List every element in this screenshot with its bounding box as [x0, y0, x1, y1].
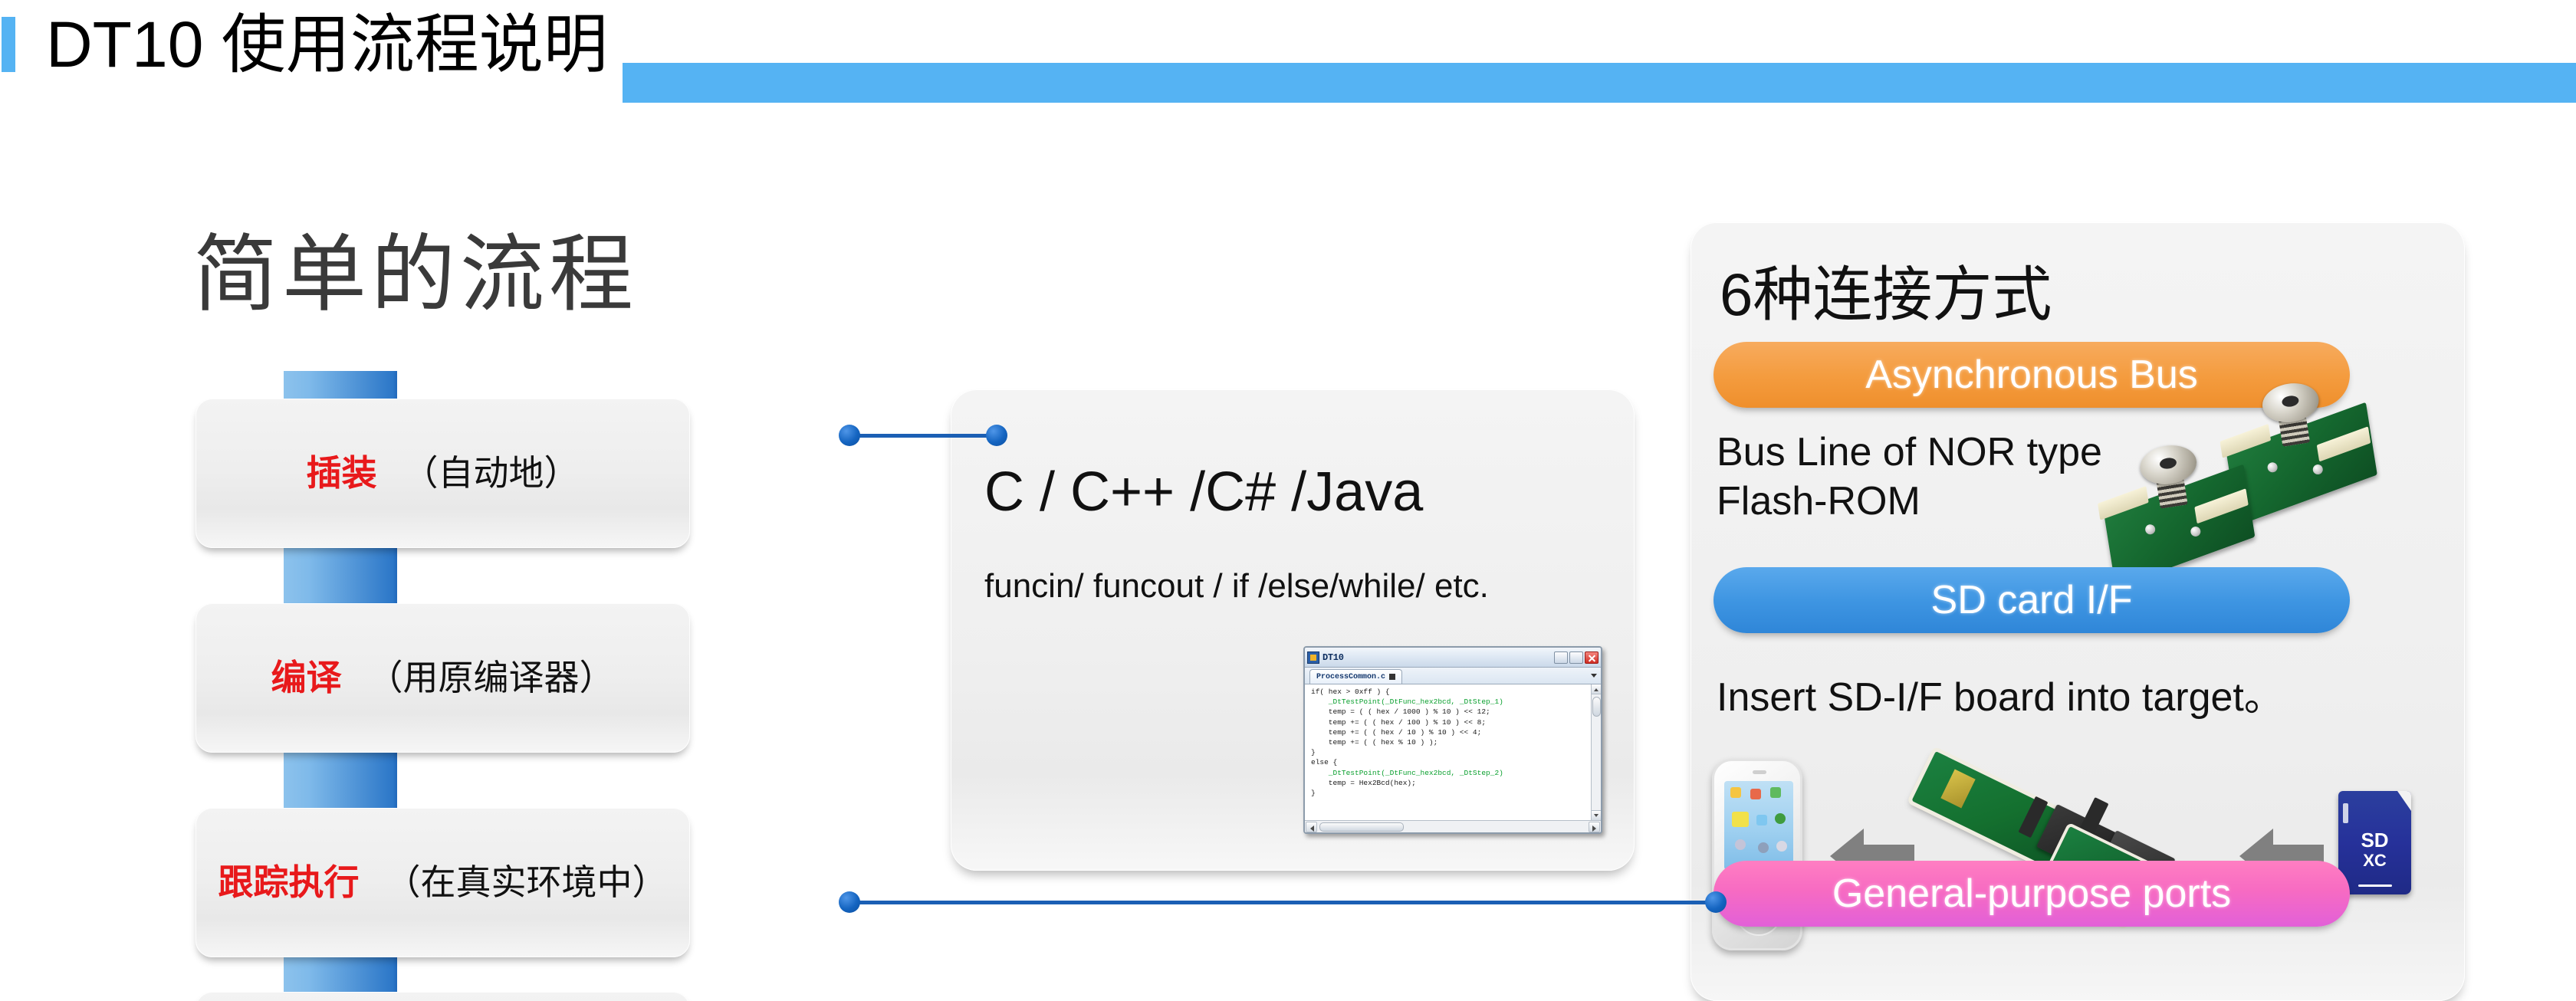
connector-dot-step3: [839, 891, 860, 913]
flow-step-2-note: （用原编译器）: [368, 658, 615, 697]
center-panel-subtext: funcin/ funcout / if /else/while/ etc.: [984, 562, 1605, 611]
scroll-down-icon[interactable]: [1592, 810, 1601, 820]
sd-card-lock-switch: [2343, 803, 2348, 823]
flow-step-2[interactable]: 编译（用原编译器）: [195, 603, 690, 753]
flow-step-4[interactable]: [195, 992, 690, 1001]
center-panel-heading: C / C++ /C# /Java: [984, 460, 1423, 524]
code-line: if( hex > 0xff ) {: [1311, 687, 1601, 697]
header-rule-bar: [623, 63, 2576, 103]
pill-general-purpose-ports-label: General-purpose ports: [1832, 871, 2231, 917]
code-line: temp = Hex2Bcd(hex);: [1311, 778, 1601, 788]
horizontal-scrollbar[interactable]: [1305, 820, 1601, 832]
horizontal-scrollbar-thumb[interactable]: [1319, 822, 1404, 832]
scroll-left-icon[interactable]: [1306, 822, 1317, 832]
connector-dot-step1: [839, 425, 860, 446]
minimize-icon[interactable]: [1554, 651, 1568, 664]
flow-step-3-action: 跟踪执行: [219, 863, 360, 902]
code-line: else {: [1311, 757, 1601, 767]
code-line: temp += ( ( hex / 100 ) % 10 ) << 8;: [1311, 717, 1601, 727]
scroll-right-icon[interactable]: [1589, 822, 1600, 832]
code-line: temp += ( ( hex % 10 ) );: [1311, 737, 1601, 747]
sd-card-photo: SD XC: [2338, 791, 2411, 894]
pda-screen-icon: [1776, 841, 1787, 852]
flow-step-3-note: （在真实环境中）: [386, 863, 668, 902]
code-line: temp += ( ( hex / 10 ) % 10 ) << 4;: [1311, 727, 1601, 737]
pill-asynchronous-bus-label: Asynchronous Bus: [1865, 352, 2198, 398]
code-window-titlebar: DT10: [1305, 648, 1601, 668]
maximize-icon[interactable]: [1569, 651, 1583, 664]
pda-speaker: [1753, 770, 1766, 774]
flow-step-2-text: 编译（用原编译器）: [271, 658, 615, 698]
sd-card-class-label: XC: [2338, 851, 2411, 871]
code-lines: if( hex > 0xff ) { _DtTestPoint(_DtFunc_…: [1311, 687, 1601, 798]
connector-line-step3-right: [849, 901, 1716, 904]
sd-card-notch: [2397, 791, 2411, 811]
pda-screen-icon: [1775, 813, 1786, 824]
dt10-app-icon: [1307, 651, 1319, 664]
page-title: DT10 使用流程说明: [46, 5, 608, 84]
code-window-buttons: [1554, 651, 1598, 664]
vertical-scrollbar[interactable]: [1591, 684, 1601, 820]
slide-canvas: DT10 使用流程说明 简单的流程 插装（自动地） 编译（用原编译器） 跟踪执行…: [0, 0, 2576, 1001]
code-line: _DtTestPoint(_DtFunc_hex2bcd, _DtStep_1): [1311, 697, 1601, 707]
code-line: temp = ( ( hex / 1000 ) % 10 ) << 12;: [1311, 707, 1601, 717]
pda-screen-icon: [1770, 787, 1781, 798]
pill-sd-card-if-label: SD card I/F: [1931, 577, 2133, 623]
code-window-title: DT10: [1322, 652, 1344, 663]
code-line: }: [1311, 747, 1601, 757]
right-panel: 6种连接方式 Asynchronous Bus Bus Line of NOR …: [1691, 222, 2465, 1001]
flow-step-3-text: 跟踪执行（在真实环境中）: [219, 863, 668, 903]
flow-step-3[interactable]: 跟踪执行（在真实环境中）: [195, 808, 690, 957]
code-window-tabbar: ProcessCommon.c: [1305, 668, 1601, 684]
flow-step-1-note: （自动地）: [403, 454, 580, 493]
pill-sd-card-if[interactable]: SD card I/F: [1714, 567, 2350, 633]
close-icon[interactable]: [1585, 651, 1598, 664]
pill-general-purpose-ports[interactable]: General-purpose ports: [1714, 861, 2350, 927]
pda-screen-icon: [1750, 789, 1761, 799]
pda-screen-icon: [1732, 812, 1749, 827]
code-line: _DtTestPoint(_DtFunc_hex2bcd, _DtStep_2): [1311, 768, 1601, 778]
connector-line-step1-center: [849, 434, 997, 438]
insert-sd-board-description: Insert SD-I/F board into target。: [1717, 673, 2284, 722]
flow-section-title: 简单的流程: [193, 230, 638, 320]
code-tab-processcommon[interactable]: ProcessCommon.c: [1309, 669, 1402, 684]
flow-step-1[interactable]: 插装（自动地）: [195, 399, 690, 548]
flow-step-1-text: 插装（自动地）: [307, 454, 580, 494]
code-tab-label: ProcessCommon.c: [1316, 673, 1385, 681]
header-accent-tick: [2, 17, 15, 72]
flow-step-1-action: 插装: [307, 454, 377, 493]
vertical-scrollbar-thumb[interactable]: [1592, 697, 1601, 717]
pda-screen-icon: [1758, 842, 1769, 853]
flow-step-2-action: 编译: [271, 658, 342, 697]
sd-card-logo: SD: [2338, 831, 2411, 849]
connector-dot-center: [986, 425, 1007, 446]
code-line: }: [1311, 788, 1601, 798]
pda-screen-icon: [1756, 815, 1767, 825]
pda-screen-icon: [1735, 839, 1746, 850]
scroll-up-icon[interactable]: [1592, 684, 1601, 694]
code-window-thumbnail[interactable]: DT10 ProcessCommon.c if( hex > 0xff ) { …: [1303, 646, 1602, 834]
chevron-down-icon[interactable]: [1591, 674, 1597, 678]
right-panel-heading: 6种连接方式: [1720, 259, 2052, 330]
pda-screen: [1724, 781, 1793, 870]
connector-dot-right: [1705, 891, 1727, 913]
tab-close-icon[interactable]: [1389, 674, 1395, 680]
sd-card-underline: [2358, 884, 2392, 887]
center-panel: C / C++ /C# /Java funcin/ funcout / if /…: [951, 389, 1635, 871]
pda-screen-icon: [1730, 787, 1741, 798]
code-editor-area[interactable]: if( hex > 0xff ) { _DtTestPoint(_DtFunc_…: [1305, 684, 1601, 820]
